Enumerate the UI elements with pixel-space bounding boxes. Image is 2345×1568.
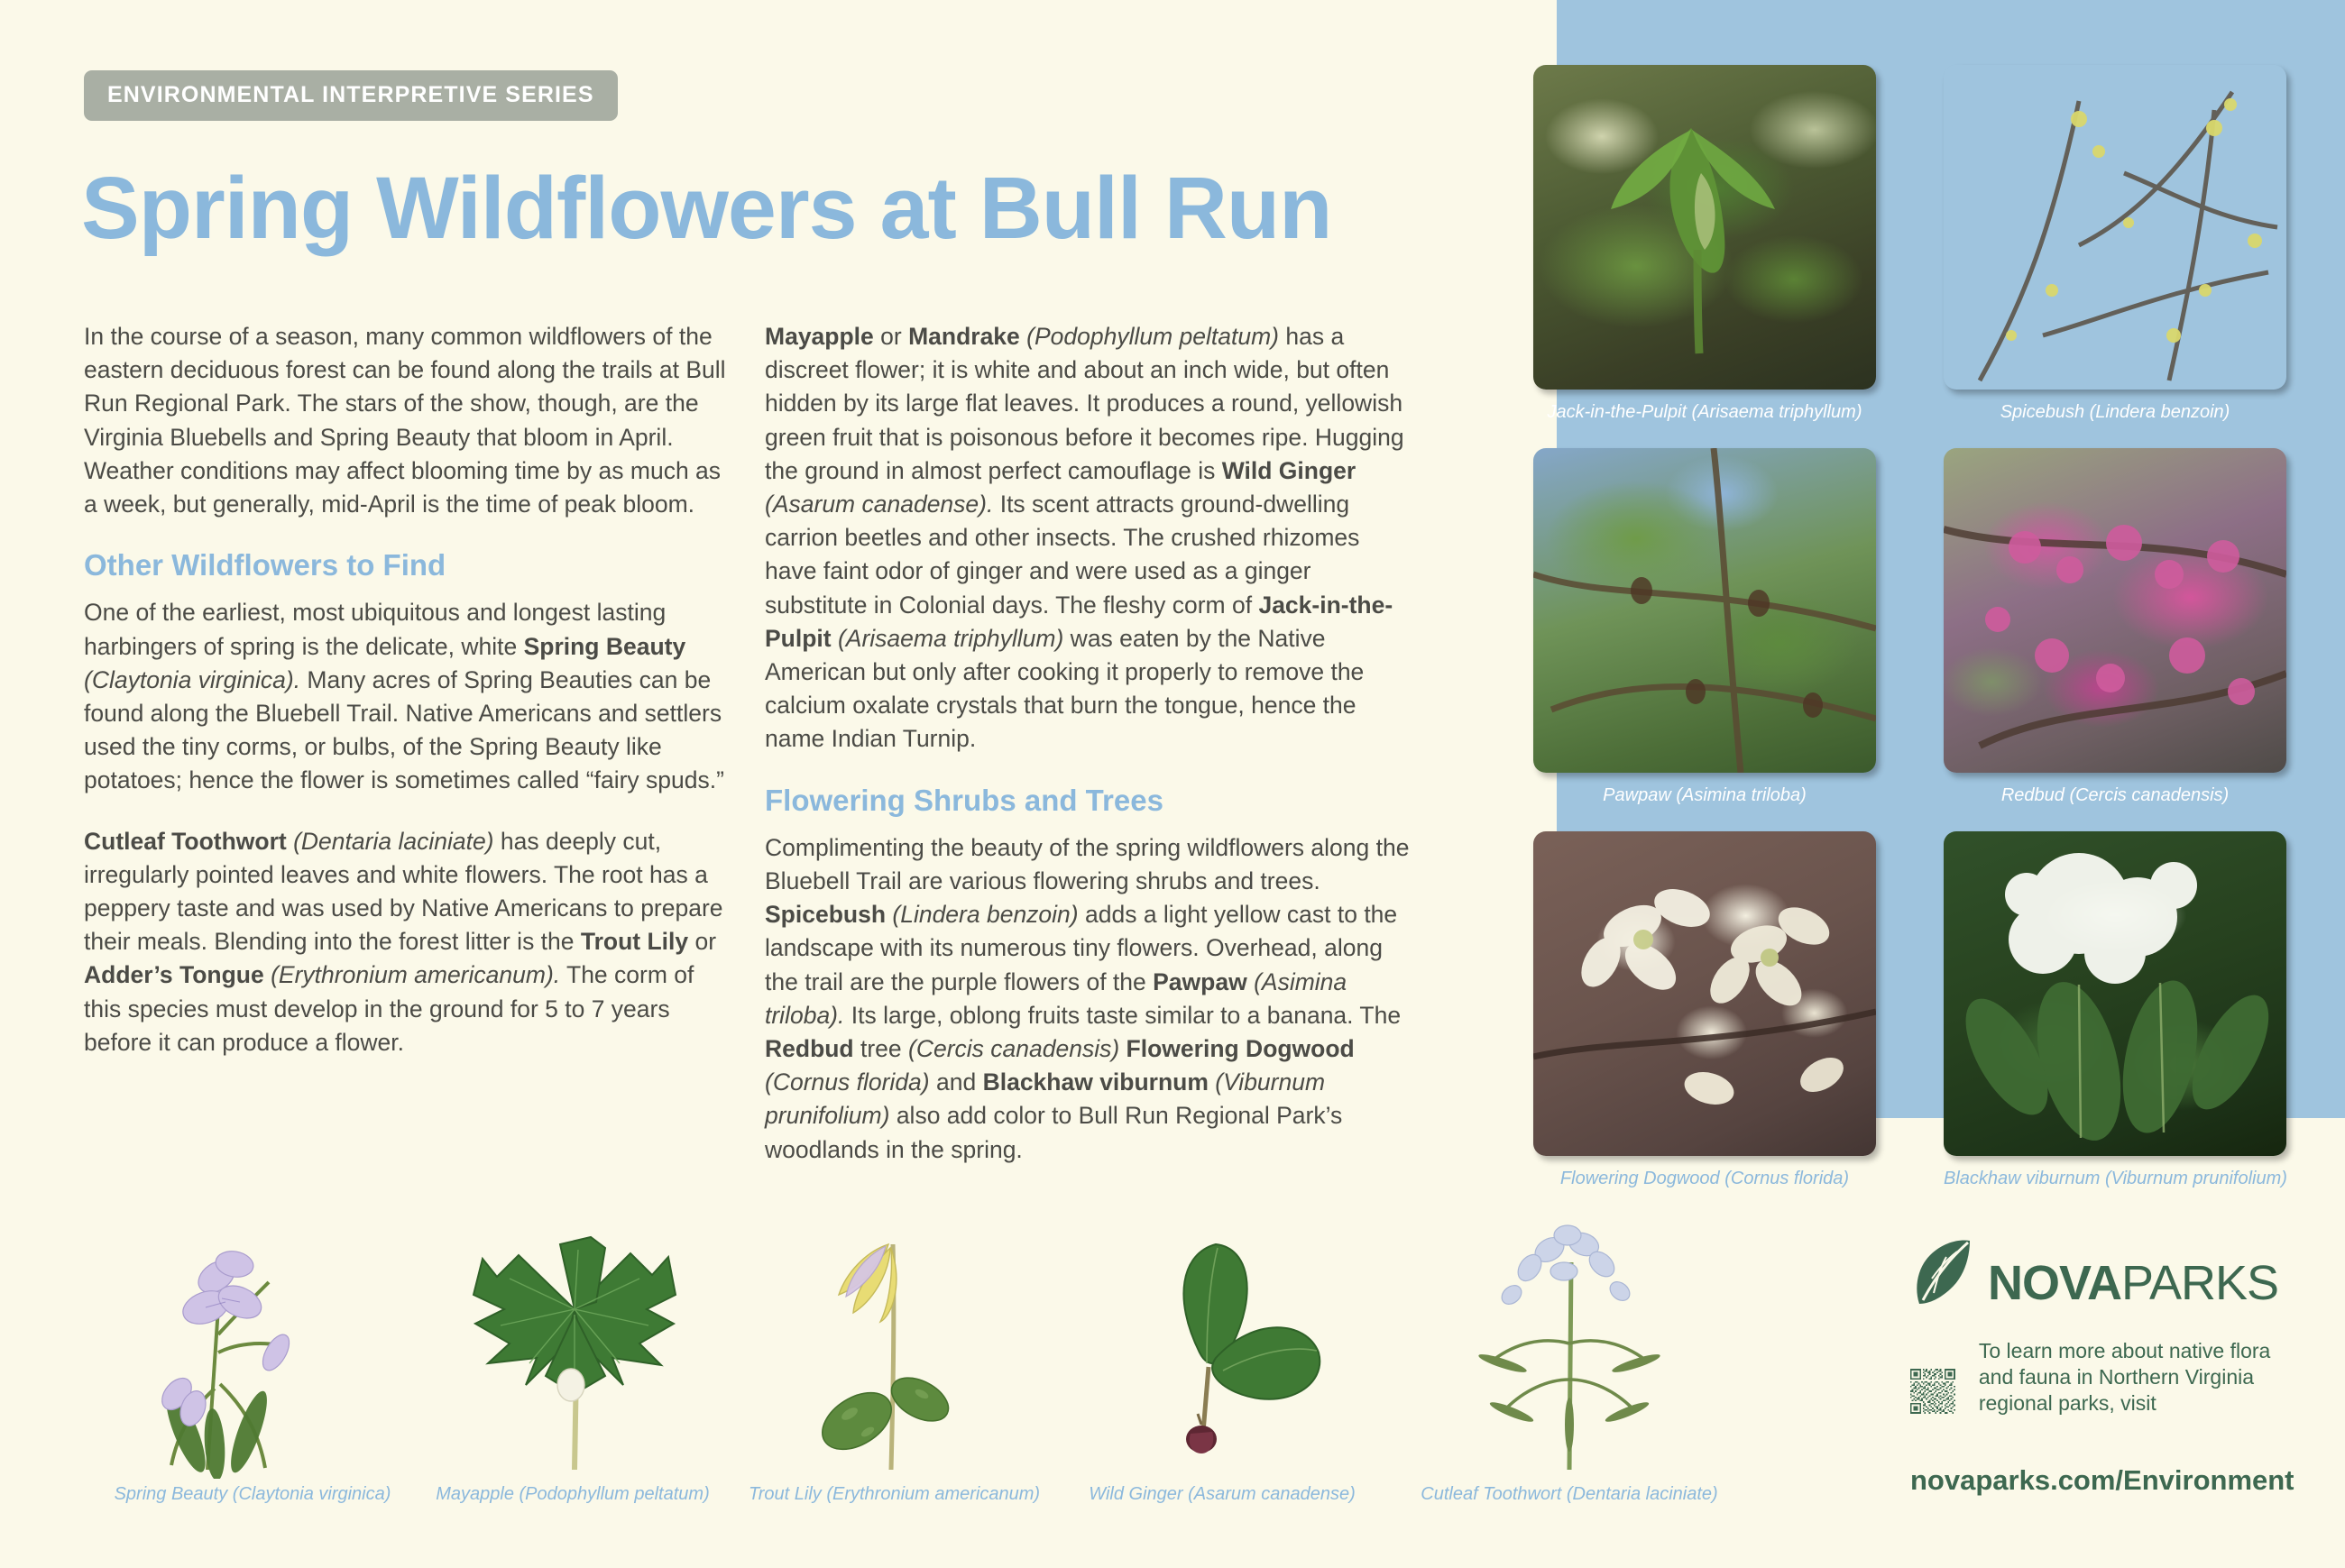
photo-cell-jack-in-the-pulpit: Jack-in-the-Pulpit (Arisaema triphyllum) — [1533, 65, 1876, 423]
section-heading-flowering-shrubs: Flowering Shrubs and Trees — [765, 784, 1412, 817]
term-trout-lily: Trout Lily — [581, 928, 688, 955]
illustration-caption: Mayapple (Podophyllum peltatum) — [410, 1484, 735, 1505]
photo-caption: Flowering Dogwood (Cornus florida) — [1533, 1169, 1876, 1189]
mayapple-illustration — [410, 1208, 735, 1479]
term-mandrake: Mandrake — [908, 323, 1020, 350]
term-adders-tongue: Adder’s Tongue — [84, 961, 264, 988]
term-flowering-dogwood: Flowering Dogwood — [1119, 1035, 1355, 1062]
photo-cell-pawpaw: Pawpaw (Asimina triloba) — [1533, 448, 1876, 806]
photo-caption: Blackhaw viburnum (Viburnum prunifolium) — [1944, 1169, 2287, 1189]
nova-parks-wordmark: NOVAPARKS — [1988, 1259, 2278, 1307]
term-cutleaf-toothwort: Cutleaf Toothwort — [84, 828, 287, 855]
illustration-cell-spring-beauty: Spring Beauty (Claytonia virginica) — [99, 1208, 406, 1505]
cutleaf-toothwort-illustration — [1416, 1208, 1723, 1479]
spring-beauty-illustration — [99, 1208, 406, 1479]
parks-word: PARKS — [2121, 1256, 2278, 1310]
term-mayapple: Mayapple — [765, 323, 874, 350]
illustration-cell-cutleaf-toothwort: Cutleaf Toothwort (Dentaria laciniate) — [1416, 1208, 1723, 1505]
trout-lily-illustration — [749, 1208, 1037, 1479]
term-pawpaw: Pawpaw — [1153, 968, 1247, 995]
illustration-caption: Trout Lily (Erythronium americanum) — [749, 1484, 1037, 1505]
photo-cell-blackhaw-viburnum: Blackhaw viburnum (Viburnum prunifolium) — [1944, 831, 2287, 1189]
series-badge: ENVIRONMENTAL INTERPRETIVE SERIES — [84, 70, 618, 121]
illustration-cell-mayapple: Mayapple (Podophyllum peltatum) — [410, 1208, 735, 1505]
paragraph-mayapple: Mayapple or Mandrake (Podophyllum peltat… — [765, 320, 1412, 756]
illustration-caption: Spring Beauty (Claytonia virginica) — [99, 1484, 406, 1505]
nova-word: NOVA — [1988, 1256, 2121, 1310]
paragraph-intro: In the course of a season, many common w… — [84, 320, 729, 521]
intro-text: In the course of a season, many common w… — [84, 323, 726, 518]
photo-caption: Jack-in-the-Pulpit (Arisaema triphyllum) — [1533, 402, 1876, 423]
qr-code-icon[interactable] — [1910, 1338, 1955, 1444]
spicebush-photo — [1944, 65, 2286, 390]
photo-caption: Pawpaw (Asimina triloba) — [1533, 785, 1876, 806]
text-column-right: Mayapple or Mandrake (Podophyllum peltat… — [765, 320, 1412, 1167]
photo-caption: Spicebush (Lindera benzoin) — [1944, 402, 2286, 423]
photo-cell-spicebush: Spicebush (Lindera benzoin) — [1944, 65, 2286, 423]
paragraph-flowering-shrubs: Complimenting the beauty of the spring w… — [765, 831, 1412, 1167]
illustration-cell-wild-ginger: Wild Ginger (Asarum canadense) — [1064, 1208, 1380, 1505]
illustration-caption: Cutleaf Toothwort (Dentaria laciniate) — [1416, 1484, 1723, 1505]
redbud-photo — [1944, 448, 2286, 773]
qr-instruction-text: To learn more about native flora and fau… — [1979, 1338, 2298, 1417]
term-spring-beauty: Spring Beauty — [524, 633, 686, 660]
nova-parks-url[interactable]: novaparks.com/Environment — [1910, 1464, 2298, 1497]
photo-cell-flowering-dogwood: Flowering Dogwood (Cornus florida) — [1533, 831, 1876, 1189]
term-redbud: Redbud — [765, 1035, 854, 1062]
text-column-left: In the course of a season, many common w… — [84, 320, 729, 1087]
poster-root: ENVIRONMENTAL INTERPRETIVE SERIES Spring… — [0, 0, 2345, 1568]
nova-parks-block: NOVAPARKS — [1910, 1237, 2298, 1497]
paragraph-spring-beauty: One of the earliest, most ubiquitous and… — [84, 596, 729, 797]
nova-parks-logo: NOVAPARKS — [1910, 1237, 2298, 1307]
term-wild-ginger: Wild Ginger — [1222, 457, 1356, 484]
photo-caption: Redbud (Cercis canadensis) — [1944, 785, 2286, 806]
paragraph-cutleaf-toothwort: Cutleaf Toothwort (Dentaria laciniate) h… — [84, 825, 729, 1059]
jack-in-the-pulpit-photo — [1533, 65, 1876, 390]
qr-row: To learn more about native flora and fau… — [1910, 1338, 2298, 1444]
page-title: Spring Wildflowers at Bull Run — [81, 158, 1331, 259]
blackhaw-viburnum-photo — [1944, 831, 2286, 1156]
flowering-dogwood-photo — [1533, 831, 1876, 1156]
term-blackhaw-viburnum: Blackhaw viburnum — [983, 1068, 1209, 1096]
leaf-icon — [1910, 1237, 1975, 1307]
illustration-cell-trout-lily: Trout Lily (Erythronium americanum) — [749, 1208, 1037, 1505]
wild-ginger-illustration — [1064, 1208, 1380, 1479]
term-spicebush: Spicebush — [765, 901, 886, 928]
photo-cell-redbud: Redbud (Cercis canadensis) — [1944, 448, 2286, 806]
illustration-caption: Wild Ginger (Asarum canadense) — [1064, 1484, 1380, 1505]
pawpaw-photo — [1533, 448, 1876, 773]
section-heading-other-wildflowers: Other Wildflowers to Find — [84, 548, 729, 582]
